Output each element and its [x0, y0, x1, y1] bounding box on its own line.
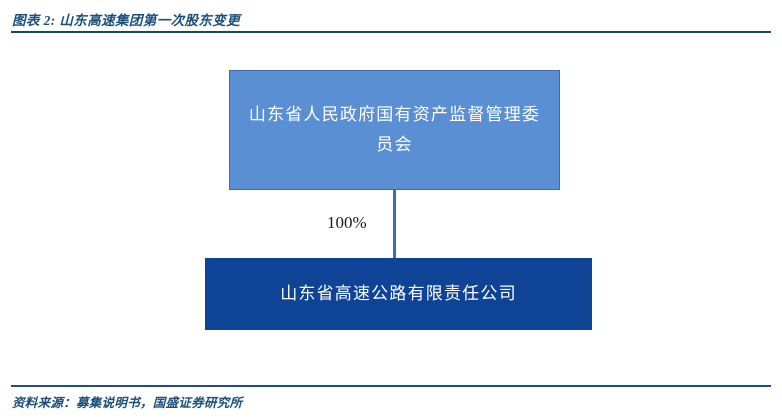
page-title: 图表 2: 山东高速集团第一次股东变更	[12, 9, 240, 29]
org-edge-connector	[393, 190, 396, 258]
exhibit-figure: 图表 2: 山东高速集团第一次股东变更 山东省人民政府国有资产监督管理委员会 1…	[0, 0, 782, 418]
org-chart: 山东省人民政府国有资产监督管理委员会 100% 山东省高速公路有限责任公司	[0, 40, 782, 380]
org-node-parent-label: 山东省人民政府国有资产监督管理委员会	[248, 100, 541, 160]
org-node-parent: 山东省人民政府国有资产监督管理委员会	[229, 70, 560, 190]
ownership-percentage-label: 100%	[327, 213, 367, 233]
source-note: 资料来源：募集说明书，国盛证券研究所	[12, 392, 242, 411]
footer-divider	[11, 385, 771, 387]
header-divider	[11, 31, 771, 33]
org-node-child: 山东省高速公路有限责任公司	[205, 258, 592, 330]
org-node-child-label: 山东省高速公路有限责任公司	[280, 279, 517, 309]
